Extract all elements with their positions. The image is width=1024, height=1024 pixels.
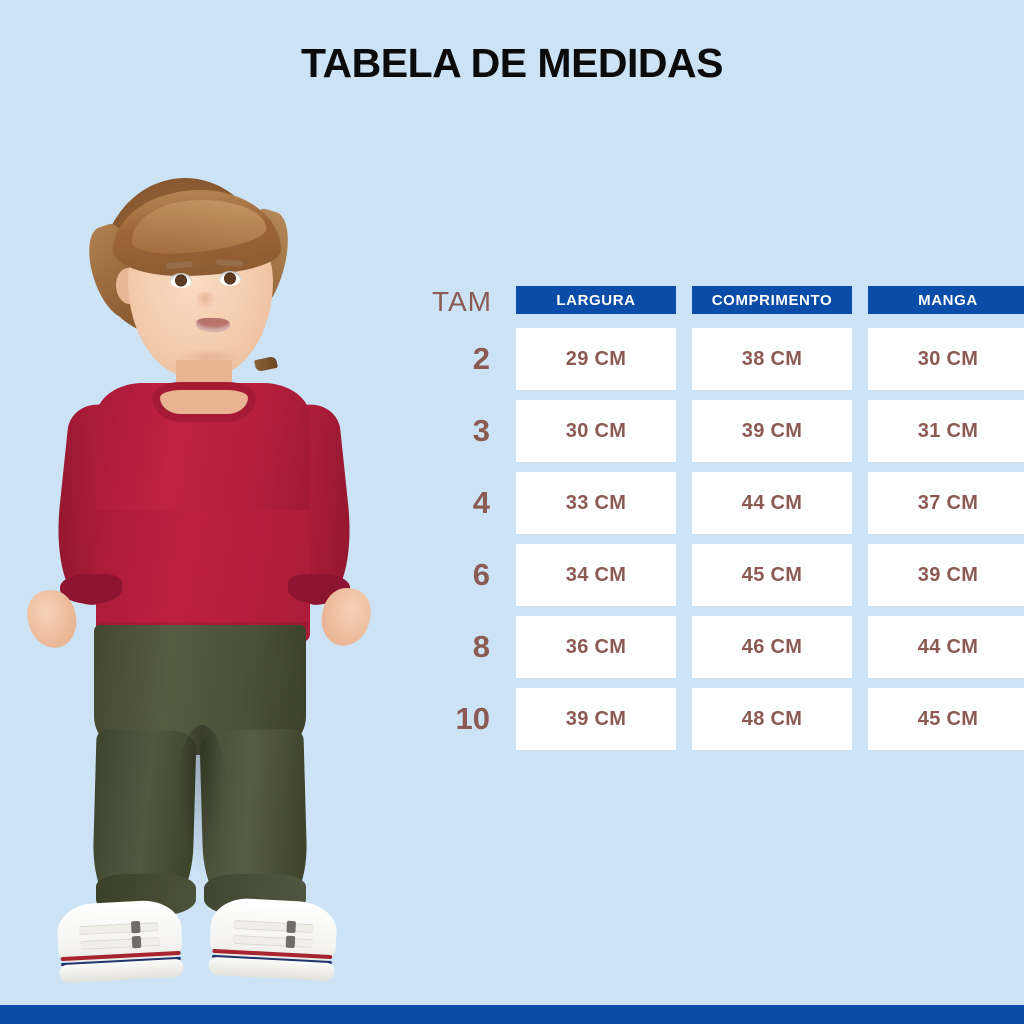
table-row-size: 6 [400, 544, 500, 606]
sneaker-left [56, 899, 184, 985]
table-cell-largura: 33 CM [516, 472, 676, 534]
table-cell-comprimento: 39 CM [692, 400, 852, 462]
table-cell-manga: 30 CM [868, 328, 1024, 390]
shirt-brand-tag [254, 356, 278, 372]
table-cell-largura: 29 CM [516, 328, 676, 390]
product-model-photo [0, 170, 400, 1005]
table-cell-largura: 30 CM [516, 400, 676, 462]
table-row-size: 8 [400, 616, 500, 678]
table-cell-largura: 39 CM [516, 688, 676, 750]
table-row-size: 2 [400, 328, 500, 390]
table-cell-largura: 36 CM [516, 616, 676, 678]
pants-shadow [176, 725, 228, 875]
velcro-buckle-top [286, 921, 296, 933]
table-row-size: 3 [400, 400, 500, 462]
table-cell-comprimento: 44 CM [692, 472, 852, 534]
table-cell-comprimento: 46 CM [692, 616, 852, 678]
size-chart-grid: TAM LARGURA COMPRIMENTO MANGA 2 29 CM 38… [400, 286, 1020, 750]
column-header-manga: MANGA [868, 286, 1024, 314]
sneaker-right [208, 897, 338, 983]
table-cell-manga: 31 CM [868, 400, 1024, 462]
eye-left [170, 273, 192, 288]
shirt-collar [152, 382, 256, 422]
table-cell-manga: 44 CM [868, 616, 1024, 678]
table-cell-largura: 34 CM [516, 544, 676, 606]
table-cell-manga: 37 CM [868, 472, 1024, 534]
column-header-tam: TAM [400, 286, 500, 318]
column-header-comprimento: COMPRIMENTO [692, 286, 852, 314]
table-cell-comprimento: 48 CM [692, 688, 852, 750]
eye-right [219, 271, 241, 286]
velcro-buckle-top [131, 921, 141, 933]
velcro-buckle-bottom [132, 936, 142, 948]
page-title: TABELA DE MEDIDAS [0, 40, 1024, 87]
footer-accent-bar [0, 1005, 1024, 1024]
velcro-buckle-bottom [285, 936, 295, 948]
table-row-size: 4 [400, 472, 500, 534]
table-cell-comprimento: 38 CM [692, 328, 852, 390]
nose [196, 292, 216, 310]
table-cell-manga: 45 CM [868, 688, 1024, 750]
table-row-size: 10 [400, 688, 500, 750]
table-cell-manga: 39 CM [868, 544, 1024, 606]
column-header-largura: LARGURA [516, 286, 676, 314]
size-chart-table: TAM LARGURA COMPRIMENTO MANGA 2 29 CM 38… [400, 286, 1020, 750]
table-cell-comprimento: 45 CM [692, 544, 852, 606]
